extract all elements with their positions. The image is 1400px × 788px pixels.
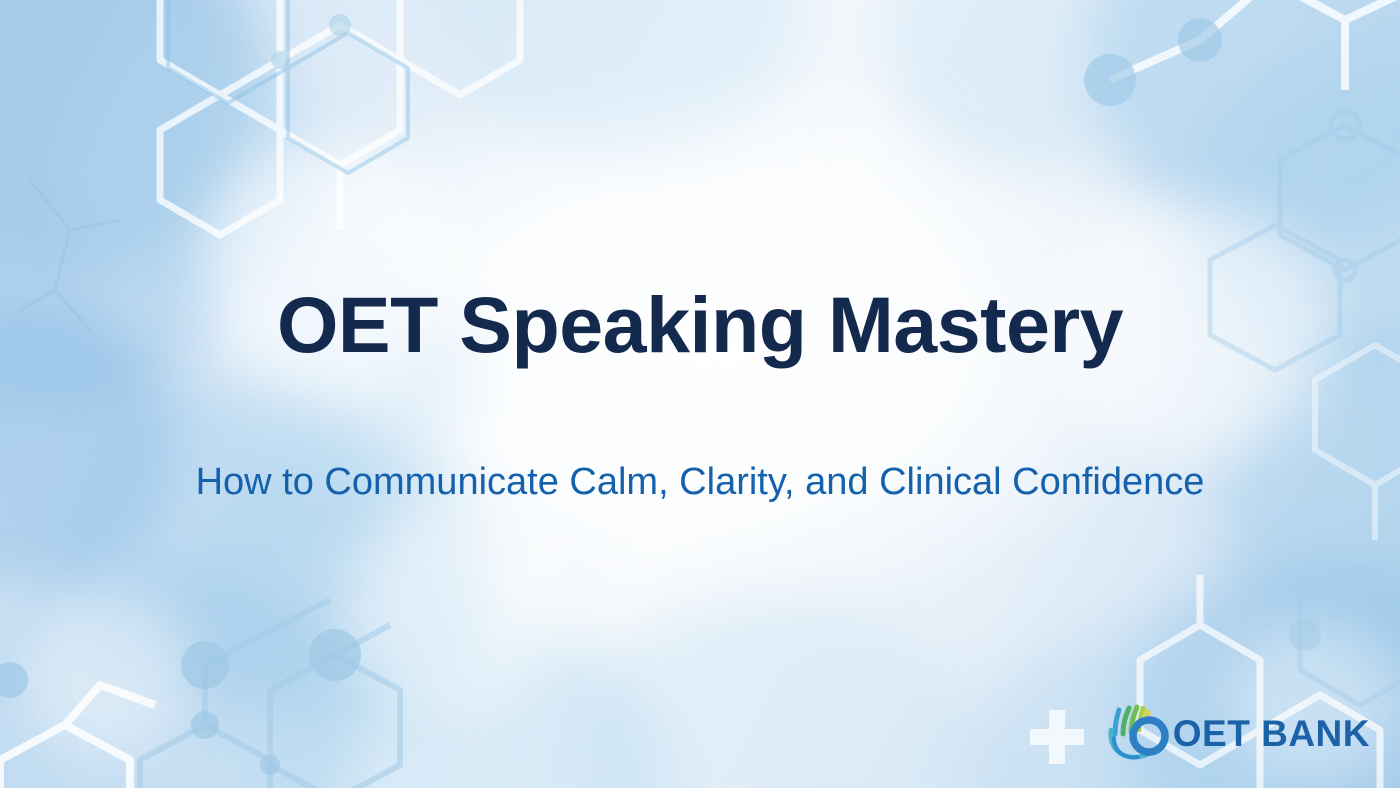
presentation-slide: OET Speaking Mastery How to Communicate … xyxy=(0,0,1400,788)
page-title: OET Speaking Mastery xyxy=(277,282,1123,367)
slide-content: OET Speaking Mastery How to Communicate … xyxy=(0,0,1400,788)
oet-bank-swoosh-mark xyxy=(1105,704,1177,762)
oet-bank-logo[interactable]: OET BANK xyxy=(1105,704,1370,762)
logo-wordmark: OET BANK xyxy=(1173,715,1370,752)
slide-subtitle: How to Communicate Calm, Clarity, and Cl… xyxy=(196,459,1205,507)
